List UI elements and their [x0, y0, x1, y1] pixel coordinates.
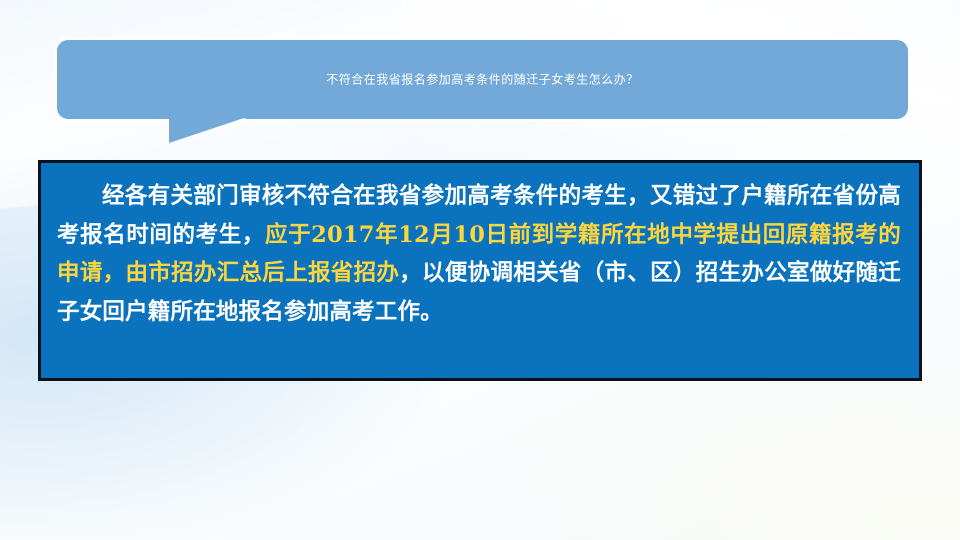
answer-content-box: 经各有关部门审核不符合在我省参加高考条件的考生，又错过了户籍所在省份高考报名时间…	[38, 160, 922, 381]
answer-body-text: 经各有关部门审核不符合在我省参加高考条件的考生，又错过了户籍所在省份高考报名时间…	[41, 163, 919, 332]
question-speech-bubble: 不符合在我省报名参加高考条件的随迁子女考生怎么办？	[57, 40, 908, 119]
question-title: 不符合在我省报名参加高考条件的随迁子女考生怎么办？	[57, 73, 908, 86]
slide-canvas: 不符合在我省报名参加高考条件的随迁子女考生怎么办？ 经各有关部门审核不符合在我省…	[0, 0, 960, 540]
speech-bubble-tail-icon	[169, 117, 247, 143]
